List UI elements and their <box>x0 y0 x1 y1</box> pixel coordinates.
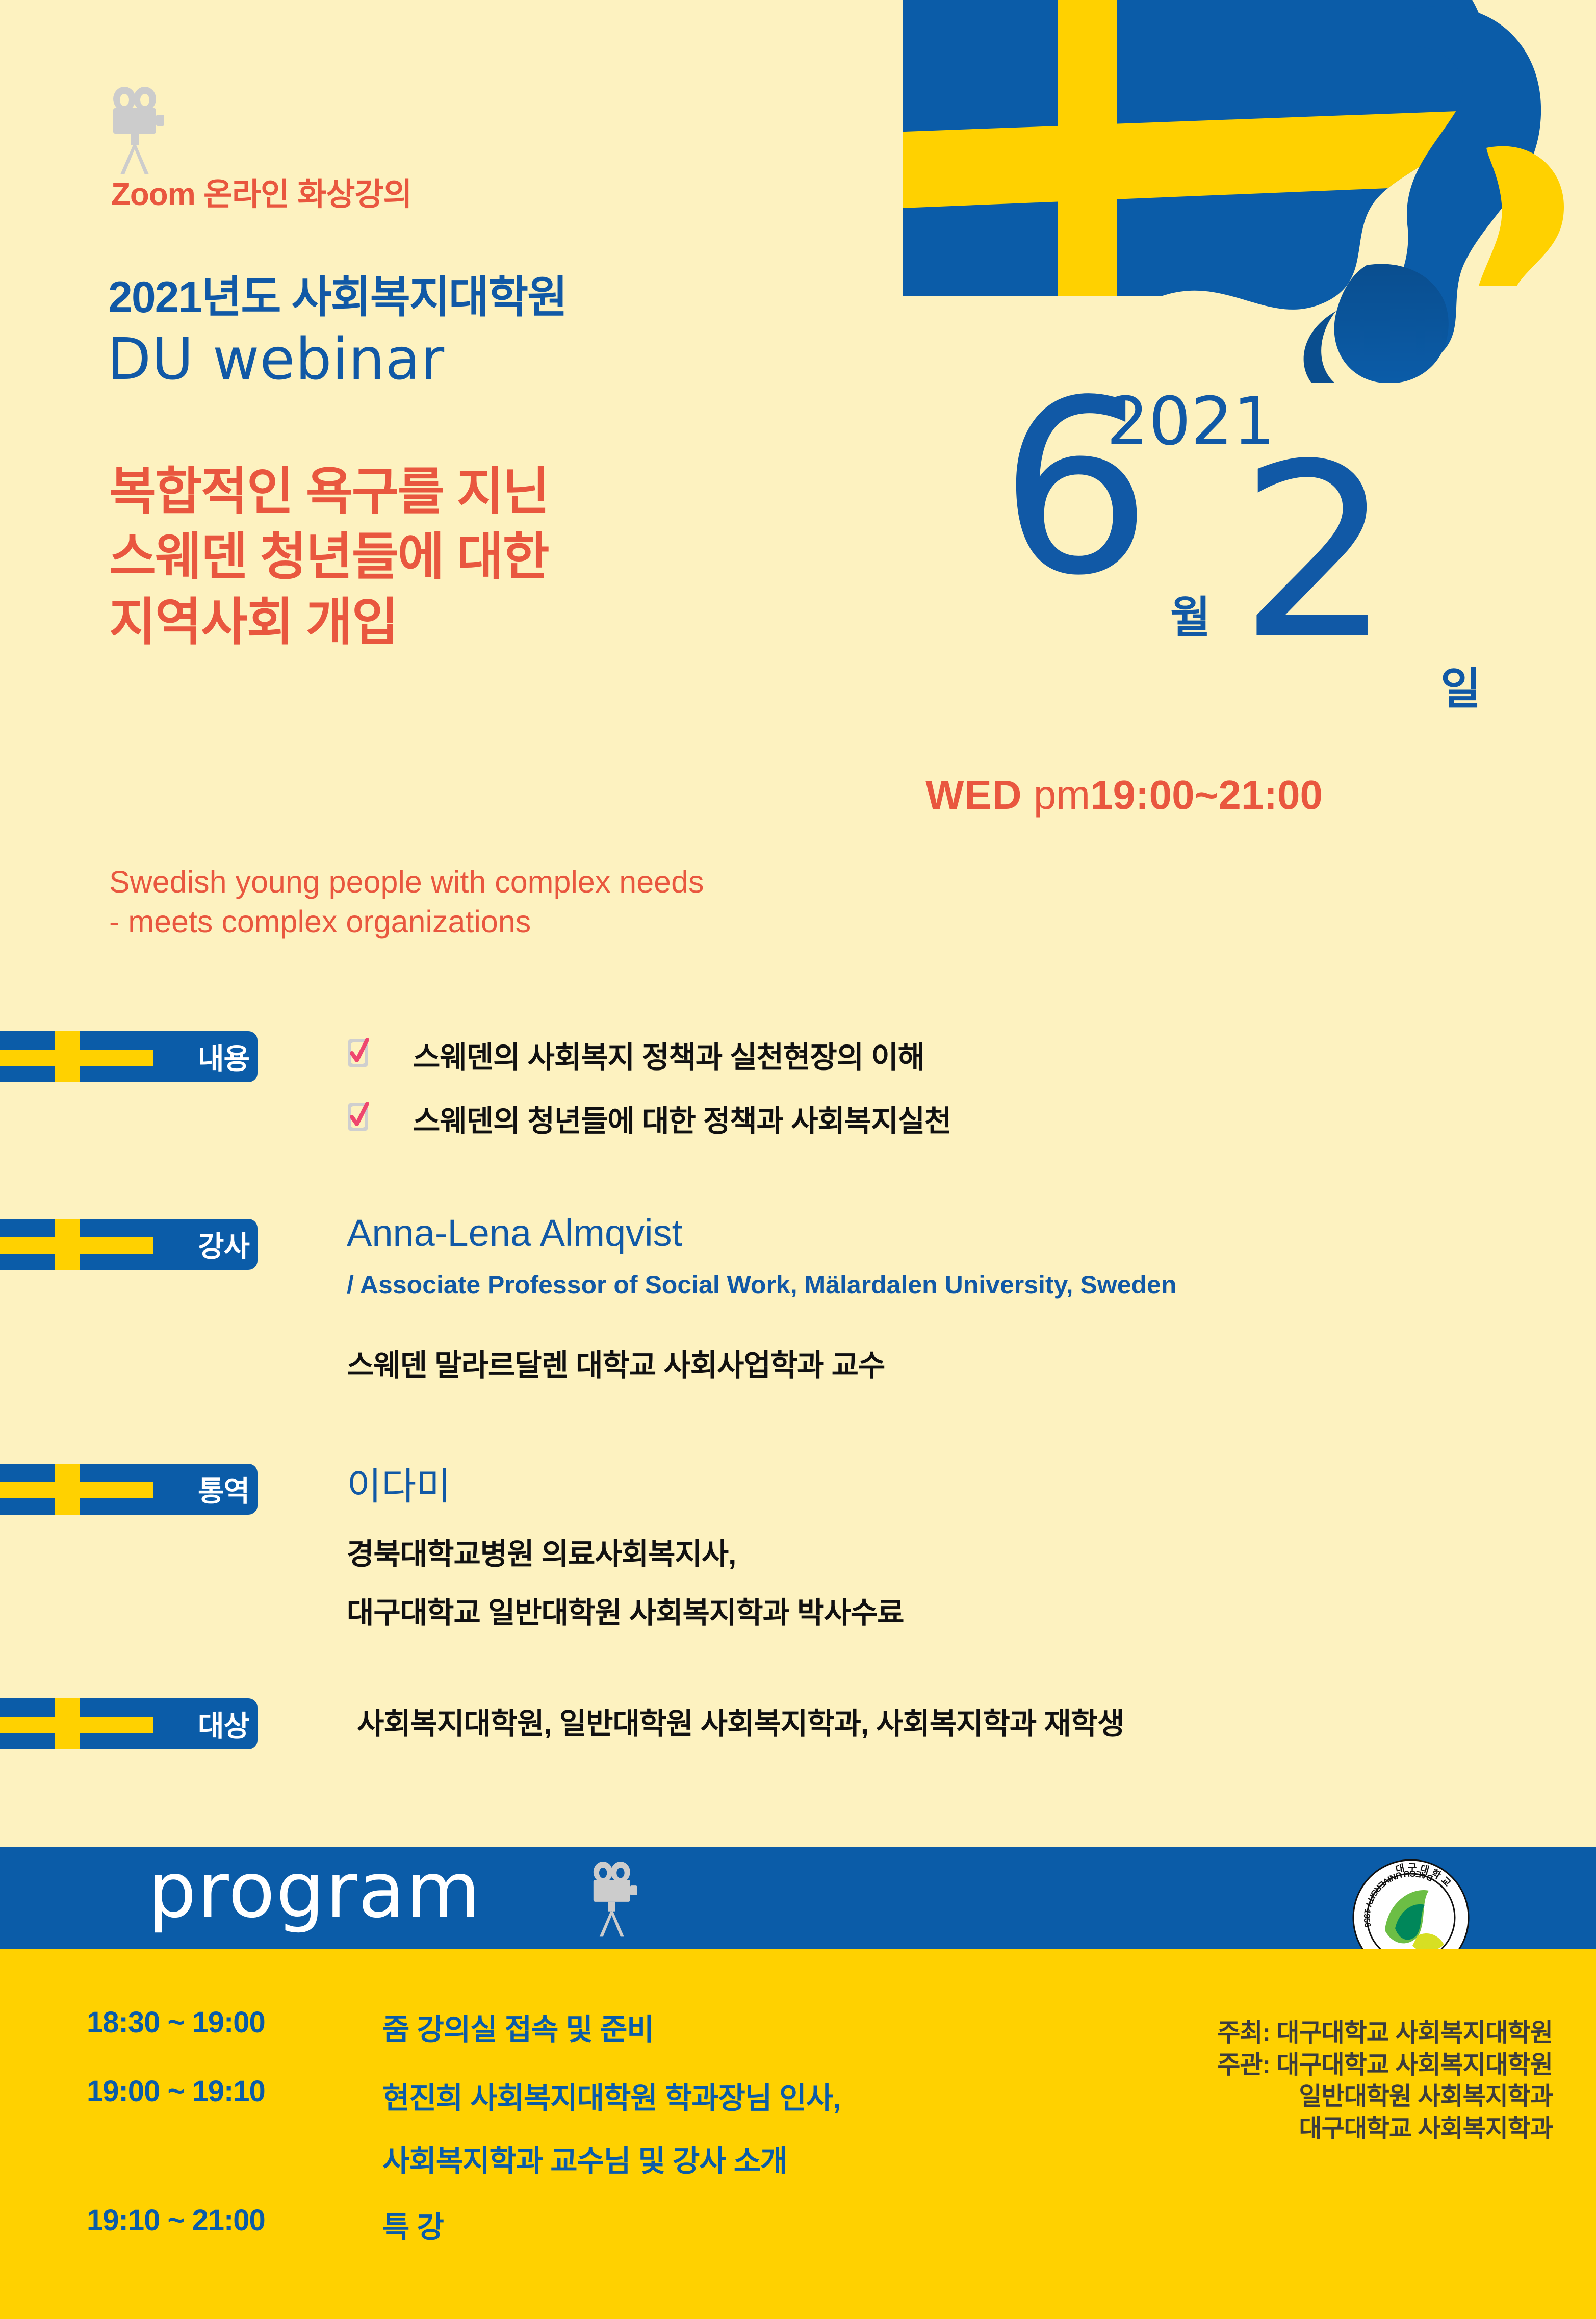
flag-cross-horizontal <box>0 1717 153 1733</box>
organizer-line-2: 주관: 대구대학교 사회복지대학원 <box>1217 2049 1553 2081</box>
content-item-1: 스웨덴의 사회복지 정책과 실천현장의 이해 <box>413 1033 924 1076</box>
organizer-info: 주최: 대구대학교 사회복지대학원 주관: 대구대학교 사회복지대학원 일반대학… <box>1217 2017 1553 2145</box>
badge-speaker: 강사 <box>0 1219 258 1270</box>
event-time-range: 19:00~21:00 <box>1090 772 1323 818</box>
zoom-online-label: Zoom 온라인 화상강의 <box>111 168 411 214</box>
audience-text: 사회복지대학원, 일반대학원 사회복지학과, 사회복지학과 재학생 <box>357 1699 1124 1742</box>
swedish-flag-graphic <box>775 0 1596 383</box>
date-month-number: 6 <box>999 395 1152 582</box>
poster-root: Zoom 온라인 화상강의 2021년도 사회복지대학원 DU webinar … <box>0 0 1596 2319</box>
subtitle-line-2: - meets complex organizations <box>109 902 704 941</box>
date-day-label: 일 <box>1440 653 1481 717</box>
subtitle-english: Swedish young people with complex needs … <box>109 862 704 941</box>
organizer-line-4: 대구대학교 사회복지학과 <box>1217 2113 1553 2145</box>
speaker-affiliation-en: / Associate Professor of Social Work, Mä… <box>347 1270 1176 1299</box>
content-item-2: 스웨덴의 청년들에 대한 정책과 사회복지실천 <box>413 1097 951 1140</box>
schedule-time-3: 19:10 ~ 21:00 <box>87 2203 265 2237</box>
video-camera-icon <box>591 1862 640 1938</box>
badge-contents: 내용 <box>0 1031 258 1082</box>
checkbox-checked-icon <box>347 1037 370 1068</box>
event-date-block: 2021 6 월 2 일 <box>989 377 1576 734</box>
speaker-name: Anna-Lena Almqvist <box>347 1211 682 1255</box>
headline: 복합적인 욕구를 지닌 스웨덴 청년들에 대한 지역사회 개입 <box>109 459 549 655</box>
organizer-line-1: 주최: 대구대학교 사회복지대학원 <box>1217 2017 1553 2049</box>
schedule-desc-2b: 사회복지학과 교수님 및 강사 소개 <box>382 2137 787 2180</box>
event-weekday: WED <box>925 772 1022 818</box>
headline-line-1: 복합적인 욕구를 지닌 <box>109 459 549 524</box>
schedule-desc-1: 줌 강의실 접속 및 준비 <box>382 2005 654 2048</box>
badge-label: 강사 <box>198 1224 249 1265</box>
flag-cross-horizontal <box>0 1482 153 1498</box>
schedule-desc-3: 특 강 <box>382 2203 444 2246</box>
schedule-time-1: 18:30 ~ 19:00 <box>87 2005 265 2040</box>
interpreter-detail-2: 대구대학교 일반대학원 사회복지학과 박사수료 <box>347 1589 904 1632</box>
headline-line-2: 스웨덴 청년들에 대한 <box>109 524 549 590</box>
subtitle-line-1: Swedish young people with complex needs <box>109 862 704 902</box>
video-camera-icon <box>111 87 167 176</box>
event-time-prefix: pm <box>1034 772 1090 818</box>
flag-cross-horizontal <box>0 1050 153 1066</box>
badge-audience: 대상 <box>0 1698 258 1749</box>
headline-line-3: 지역사회 개입 <box>109 590 549 655</box>
page-title-korean: 2021년도 사회복지대학원 <box>108 261 567 325</box>
brand-title: DU webinar <box>107 326 445 393</box>
badge-label: 내용 <box>198 1036 249 1078</box>
program-title: program <box>148 1846 481 1935</box>
checkbox-checked-icon <box>347 1101 370 1132</box>
date-month-label: 월 <box>1170 581 1211 645</box>
date-day-number: 2 <box>1239 459 1392 646</box>
interpreter-name: 이다미 <box>347 1456 451 1511</box>
flag-cross-horizontal <box>0 1237 153 1254</box>
badge-label: 통역 <box>198 1469 249 1510</box>
event-time: WED pm19:00~21:00 <box>925 772 1323 819</box>
interpreter-detail-1: 경북대학교병원 의료사회복지사, <box>347 1530 736 1573</box>
organizer-line-3: 일반대학원 사회복지학과 <box>1217 2081 1553 2113</box>
speaker-affiliation-kr: 스웨덴 말라르달렌 대학교 사회사업학과 교수 <box>347 1341 885 1384</box>
badge-interpreter: 통역 <box>0 1464 258 1515</box>
badge-label: 대상 <box>198 1703 249 1745</box>
schedule-time-2: 19:00 ~ 19:10 <box>87 2074 265 2108</box>
schedule-desc-2a: 현진희 사회복지대학원 학과장님 인사, <box>382 2074 840 2117</box>
